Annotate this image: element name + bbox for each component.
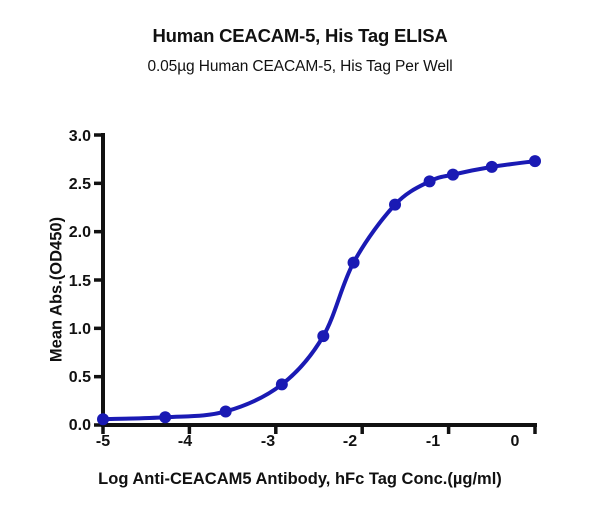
data-point [317,330,329,342]
data-point-markers [97,155,541,425]
data-point [97,413,109,425]
data-point [447,169,459,181]
data-series [97,155,541,425]
axis-ticks [94,135,535,434]
data-point [486,161,498,173]
data-point [348,257,360,269]
elisa-chart: Human CEACAM-5, His Tag ELISA 0.05µg Hum… [0,0,600,519]
plot-area [0,0,600,519]
data-point [424,175,436,187]
data-point [220,405,232,417]
data-point [389,199,401,211]
data-point [276,378,288,390]
data-point [159,411,171,423]
data-point [529,155,541,167]
axis-spines [103,135,535,425]
